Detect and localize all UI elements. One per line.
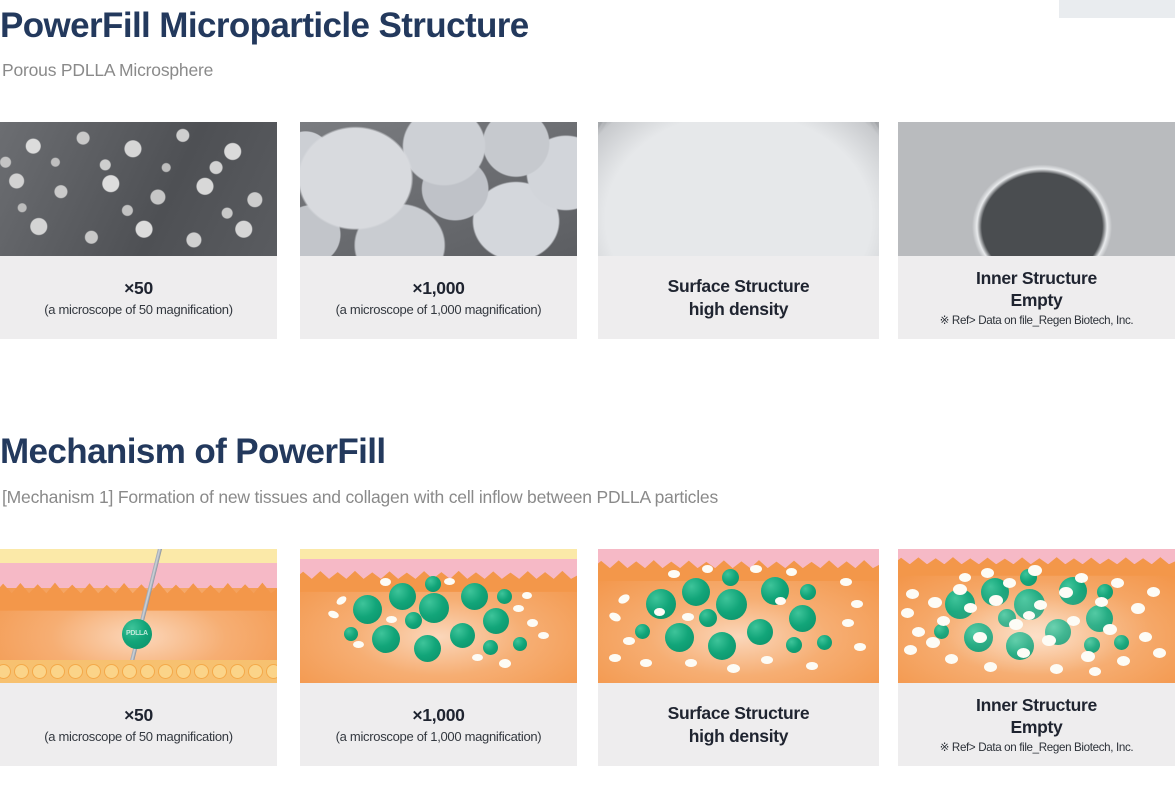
caption-reference-note: ※ Ref> Data on file_Regen Biotech, Inc. bbox=[940, 741, 1134, 755]
cell bbox=[472, 654, 483, 661]
skin-illustration bbox=[598, 549, 879, 683]
caption-magnification: ×50 bbox=[124, 277, 153, 299]
cell bbox=[609, 654, 621, 662]
caption-title: Inner Structure Empty bbox=[976, 267, 1097, 312]
fat-cell bbox=[68, 664, 83, 679]
pdlla-particle bbox=[414, 635, 441, 662]
panel-mechanism-dispersed[interactable]: ×1,000 (a microscope of 1,000 magnificat… bbox=[300, 549, 577, 766]
panel-sem-x1000[interactable]: ×1,000 (a microscope of 1,000 magnificat… bbox=[300, 122, 577, 339]
pdlla-particle bbox=[483, 640, 498, 655]
cell bbox=[702, 565, 713, 573]
fat-cell bbox=[230, 664, 245, 679]
fat-cell bbox=[104, 664, 119, 679]
sem-microsphere-closeup-image bbox=[300, 122, 577, 256]
panel-caption: ×50 (a microscope of 50 magnification) bbox=[0, 256, 277, 339]
panel-inner-structure[interactable]: Inner Structure Empty ※ Ref> Data on fil… bbox=[898, 122, 1175, 339]
page-title-microparticle-structure: PowerFill Microparticle Structure bbox=[0, 6, 529, 46]
panel-sem-x50[interactable]: ×50 (a microscope of 50 magnification) bbox=[0, 122, 277, 339]
injection-figure: PDLLA bbox=[0, 549, 277, 683]
fat-cell bbox=[50, 664, 65, 679]
cell bbox=[685, 659, 697, 667]
cell-inflow-figure bbox=[598, 549, 879, 683]
caption-description: (a microscope of 50 magnification) bbox=[44, 729, 233, 745]
pdlla-particle bbox=[635, 624, 650, 639]
cell bbox=[806, 662, 818, 670]
sem-x1000-figure bbox=[300, 122, 577, 256]
panel-surface-structure[interactable]: Surface Structure high density bbox=[598, 122, 879, 339]
dispersed-particles-figure bbox=[300, 549, 577, 683]
panel-caption: Surface Structure high density bbox=[598, 683, 879, 766]
panel-caption: Inner Structure Empty ※ Ref> Data on fil… bbox=[898, 683, 1175, 766]
sem-microsphere-field-image bbox=[0, 122, 277, 256]
surface-structure-figure bbox=[598, 122, 879, 256]
sem-cross-section-image bbox=[898, 122, 1175, 256]
sem-surface-texture-image bbox=[598, 122, 879, 256]
skin-illustration bbox=[898, 549, 1175, 683]
caption-reference-note: ※ Ref> Data on file_Regen Biotech, Inc. bbox=[940, 314, 1134, 328]
cell bbox=[851, 600, 863, 608]
cell bbox=[522, 592, 532, 599]
top-right-bar bbox=[1059, 0, 1175, 18]
caption-magnification: ×50 bbox=[124, 704, 153, 726]
panel-caption: Surface Structure high density bbox=[598, 256, 879, 339]
epidermis-pink-band bbox=[0, 563, 277, 588]
fat-cell bbox=[176, 664, 191, 679]
cell bbox=[750, 565, 762, 573]
fat-cell bbox=[32, 664, 47, 679]
skin-illustration: PDLLA bbox=[0, 549, 277, 683]
pdlla-particle bbox=[389, 583, 416, 610]
pdlla-particle bbox=[665, 623, 694, 652]
page-subtitle-mechanism-1: [Mechanism 1] Formation of new tissues a… bbox=[2, 487, 718, 508]
pdlla-particle bbox=[450, 623, 475, 648]
fat-cell bbox=[14, 664, 29, 679]
pdlla-particle bbox=[497, 589, 512, 604]
collagen-glow-overlay bbox=[906, 573, 1166, 678]
cell bbox=[386, 616, 397, 623]
pdlla-particle bbox=[817, 635, 832, 650]
fat-cell bbox=[194, 664, 209, 679]
slide-page: PowerFill Microparticle Structure Porous… bbox=[0, 0, 1175, 800]
pdlla-particle bbox=[708, 632, 736, 660]
pdlla-particle bbox=[353, 595, 382, 624]
caption-title: Surface Structure high density bbox=[668, 702, 810, 747]
pdlla-particle bbox=[344, 627, 358, 641]
page-title-mechanism: Mechanism of PowerFill bbox=[0, 432, 386, 472]
pdlla-particle bbox=[722, 569, 739, 586]
sem-x50-figure bbox=[0, 122, 277, 256]
pdlla-particle bbox=[483, 608, 509, 634]
fat-cell bbox=[122, 664, 137, 679]
caption-title: Surface Structure high density bbox=[668, 275, 810, 320]
page-subtitle-porous-pdlla: Porous PDLLA Microsphere bbox=[2, 60, 213, 81]
fat-cell bbox=[140, 664, 155, 679]
panel-caption: ×1,000 (a microscope of 1,000 magnificat… bbox=[300, 256, 577, 339]
fat-cell bbox=[212, 664, 227, 679]
fat-cell bbox=[248, 664, 263, 679]
subcutaneous-fat-layer bbox=[0, 660, 277, 683]
cell bbox=[527, 619, 538, 627]
skin-illustration bbox=[300, 549, 577, 683]
cell bbox=[854, 643, 866, 651]
panel-mechanism-injection[interactable]: PDLLA bbox=[0, 549, 277, 766]
caption-description: (a microscope of 50 magnification) bbox=[44, 302, 233, 318]
fat-cell bbox=[158, 664, 173, 679]
panel-mechanism-cell-inflow[interactable]: Surface Structure high density bbox=[598, 549, 879, 766]
caption-description: (a microscope of 1,000 magnification) bbox=[336, 302, 542, 318]
cell bbox=[640, 659, 652, 667]
fat-cell bbox=[0, 664, 11, 679]
collagen-formation-figure bbox=[898, 549, 1175, 683]
cell bbox=[842, 619, 854, 627]
panel-caption: ×50 (a microscope of 50 magnification) bbox=[0, 683, 277, 766]
pdlla-particle bbox=[716, 589, 747, 620]
pdlla-particle bbox=[747, 619, 773, 645]
fat-cell bbox=[266, 664, 277, 679]
caption-description: (a microscope of 1,000 magnification) bbox=[336, 729, 542, 745]
panel-mechanism-collagen[interactable]: Inner Structure Empty ※ Ref> Data on fil… bbox=[898, 549, 1175, 766]
pdlla-particle bbox=[461, 583, 488, 610]
caption-title: Inner Structure Empty bbox=[976, 694, 1097, 739]
inner-structure-figure bbox=[898, 122, 1175, 256]
pdlla-particle bbox=[425, 576, 441, 592]
fat-cell bbox=[86, 664, 101, 679]
panel-caption: Inner Structure Empty ※ Ref> Data on fil… bbox=[898, 256, 1175, 339]
panel-caption: ×1,000 (a microscope of 1,000 magnificat… bbox=[300, 683, 577, 766]
caption-magnification: ×1,000 bbox=[412, 277, 464, 299]
cell bbox=[786, 568, 797, 576]
pdlla-particle: PDLLA bbox=[122, 619, 152, 649]
caption-magnification: ×1,000 bbox=[412, 704, 464, 726]
